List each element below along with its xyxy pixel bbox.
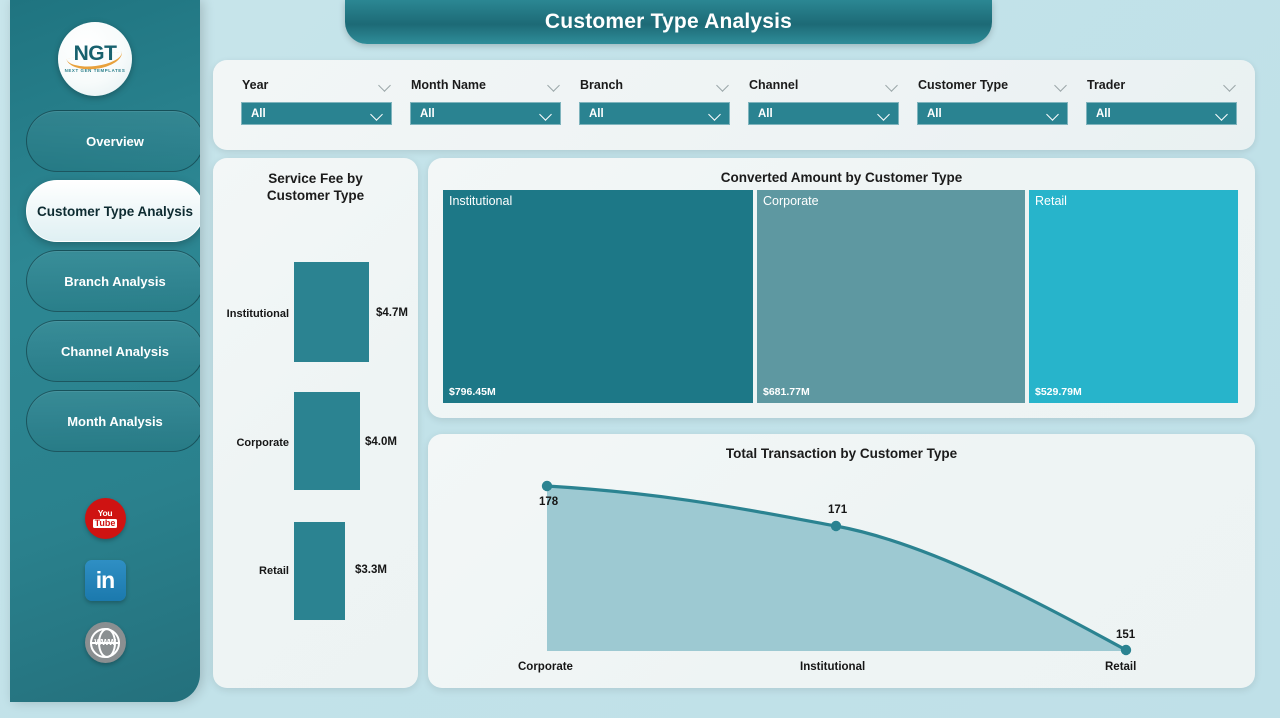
slicer-branch-value: All [589, 108, 604, 120]
slicer-channel-label: Channel [749, 78, 798, 92]
service-fee-bars: Institutional $4.7M Corporate $4.0M Reta… [213, 158, 418, 688]
slicer-branch: Branch All [565, 74, 734, 150]
slicer-month-name-header: Month Name [396, 74, 565, 96]
converted-amount-chart-card: Converted Amount by Customer Type Instit… [428, 158, 1255, 418]
axis-label-corporate: Corporate [518, 661, 573, 673]
treemap-tile-value: $529.79M [1035, 386, 1082, 398]
chevron-down-icon[interactable] [379, 81, 392, 89]
sidebar: NGT NEXT GEN TEMPLATES Overview Customer… [10, 0, 200, 702]
slicer-year-dropdown[interactable]: All [241, 102, 392, 125]
bar-category-label: Retail [217, 565, 289, 577]
sidebar-item-month-analysis[interactable]: Month Analysis [26, 390, 200, 452]
slicer-customer-type-header: Customer Type [903, 74, 1072, 96]
sidebar-item-label: Branch Analysis [64, 274, 165, 289]
slicer-customer-type-label: Customer Type [918, 78, 1008, 92]
sidebar-item-label: Overview [86, 134, 144, 149]
treemap-tile-value: $681.77M [763, 386, 810, 398]
converted-amount-chart-title: Converted Amount by Customer Type [428, 158, 1255, 186]
slicer-year: Year All [227, 74, 396, 150]
bar-value-label: $4.7M [376, 307, 408, 319]
sidebar-nav: Overview Customer Type Analysis Branch A… [26, 110, 200, 460]
slicer-month-name-value: All [420, 108, 435, 120]
youtube-icon-line2: Tube [93, 519, 118, 528]
linkedin-icon[interactable]: in [85, 560, 126, 601]
slicer-customer-type: Customer Type All [903, 74, 1072, 150]
website-icon[interactable]: WWW [85, 622, 126, 663]
sidebar-item-overview[interactable]: Overview [26, 110, 200, 172]
page-title: Customer Type Analysis [545, 10, 792, 34]
treemap-tile-institutional[interactable]: Institutional $796.45M [443, 190, 753, 403]
data-label-retail: 151 [1116, 629, 1135, 641]
slicer-month-name: Month Name All [396, 74, 565, 150]
slicer-trader: Trader All [1072, 74, 1241, 150]
bar-corporate[interactable] [294, 392, 360, 490]
youtube-icon-line1: You [98, 509, 113, 518]
treemap-tile-label: Corporate [763, 194, 819, 208]
website-icon-label: WWW [94, 638, 115, 647]
slicer-branch-header: Branch [565, 74, 734, 96]
logo-circle: NGT NEXT GEN TEMPLATES [58, 22, 132, 96]
treemap-tile-value: $796.45M [449, 386, 496, 398]
axis-label-retail: Retail [1105, 661, 1136, 673]
dashboard-page: NGT NEXT GEN TEMPLATES Overview Customer… [0, 0, 1280, 718]
slicer-year-value: All [251, 108, 266, 120]
app-logo: NGT NEXT GEN TEMPLATES [58, 22, 132, 96]
bar-category-label: Institutional [217, 308, 289, 320]
youtube-icon[interactable]: You Tube [85, 498, 126, 539]
data-point-retail[interactable] [1121, 645, 1131, 655]
chevron-down-icon[interactable] [548, 81, 561, 89]
slicer-trader-value: All [1096, 108, 1111, 120]
chevron-down-icon[interactable] [1224, 81, 1237, 89]
sidebar-item-label: Month Analysis [67, 414, 163, 429]
treemap-tile-label: Institutional [449, 194, 512, 208]
bar-institutional[interactable] [294, 262, 369, 362]
bar-value-label: $3.3M [355, 564, 387, 576]
linkedin-icon-label: in [96, 567, 114, 594]
total-transaction-plot [428, 434, 1255, 688]
bar-retail[interactable] [294, 522, 345, 620]
filter-bar: Year All Month Name All Branch [213, 60, 1255, 150]
chevron-down-icon[interactable] [1055, 81, 1068, 89]
slicer-trader-label: Trader [1087, 78, 1125, 92]
chevron-down-icon [709, 110, 722, 118]
data-label-institutional: 171 [828, 504, 847, 516]
sidebar-item-label: Channel Analysis [61, 344, 169, 359]
treemap-tile-corporate[interactable]: Corporate $681.77M [757, 190, 1025, 403]
slicer-year-header: Year [227, 74, 396, 96]
chevron-down-icon [1216, 110, 1229, 118]
axis-label-institutional: Institutional [800, 661, 865, 673]
slicer-year-label: Year [242, 78, 268, 92]
chevron-down-icon [878, 110, 891, 118]
sidebar-item-customer-type-analysis[interactable]: Customer Type Analysis [26, 180, 200, 242]
slicer-month-name-dropdown[interactable]: All [410, 102, 561, 125]
sidebar-item-label: Customer Type Analysis [37, 204, 193, 219]
globe-icon: WWW [90, 628, 120, 658]
slicer-customer-type-dropdown[interactable]: All [917, 102, 1068, 125]
chevron-down-icon[interactable] [717, 81, 730, 89]
logo-subtitle: NEXT GEN TEMPLATES [58, 68, 132, 73]
page-header: Customer Type Analysis [345, 0, 992, 44]
slicer-month-name-label: Month Name [411, 78, 486, 92]
data-point-institutional[interactable] [831, 521, 841, 531]
slicer-trader-header: Trader [1072, 74, 1241, 96]
chevron-down-icon [540, 110, 553, 118]
slicer-trader-dropdown[interactable]: All [1086, 102, 1237, 125]
bar-value-label: $4.0M [365, 436, 397, 448]
sidebar-item-branch-analysis[interactable]: Branch Analysis [26, 250, 200, 312]
chevron-down-icon[interactable] [886, 81, 899, 89]
treemap-tile-retail[interactable]: Retail $529.79M [1029, 190, 1238, 403]
social-links: You Tube in WWW [10, 498, 200, 663]
treemap-area: Institutional $796.45M Corporate $681.77… [443, 190, 1238, 403]
data-label-corporate: 178 [539, 496, 558, 508]
slicer-channel-header: Channel [734, 74, 903, 96]
data-point-corporate[interactable] [542, 481, 552, 491]
slicer-branch-label: Branch [580, 78, 623, 92]
slicer-channel-dropdown[interactable]: All [748, 102, 899, 125]
slicer-channel: Channel All [734, 74, 903, 150]
chevron-down-icon [1047, 110, 1060, 118]
slicer-channel-value: All [758, 108, 773, 120]
slicer-branch-dropdown[interactable]: All [579, 102, 730, 125]
slicer-customer-type-value: All [927, 108, 942, 120]
service-fee-chart-card: Service Fee by Customer Type Institution… [213, 158, 418, 688]
sidebar-item-channel-analysis[interactable]: Channel Analysis [26, 320, 200, 382]
treemap-tile-label: Retail [1035, 194, 1067, 208]
chevron-down-icon [371, 110, 384, 118]
total-transaction-chart-card: Total Transaction by Customer Type 178 1… [428, 434, 1255, 688]
bar-category-label: Corporate [217, 437, 289, 449]
